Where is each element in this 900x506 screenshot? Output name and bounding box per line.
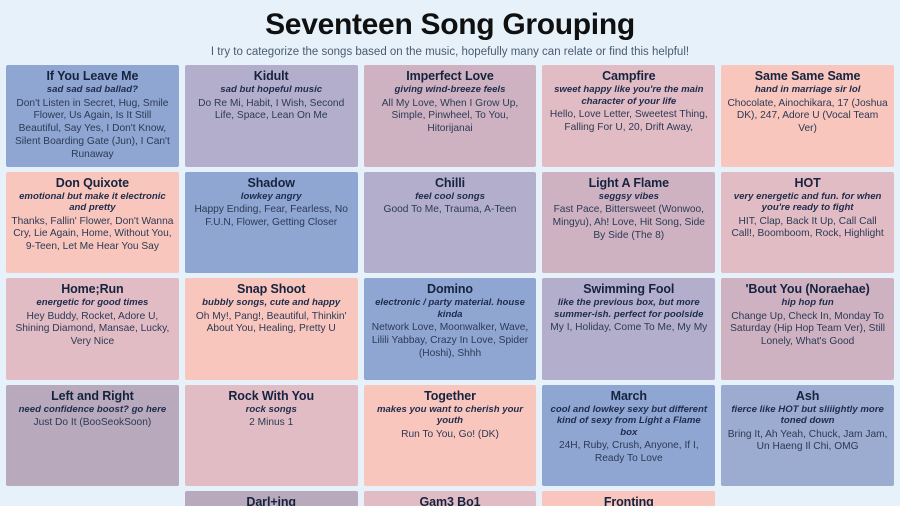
category-card-description: giving wind-breeze feels	[369, 84, 532, 96]
category-card-description: hand in marriage sir lol	[726, 84, 889, 96]
category-card-description: bubbly songs, cute and happy	[190, 297, 353, 309]
category-card-title: Together	[369, 389, 532, 404]
page-subtitle: I try to categorize the songs based on t…	[6, 46, 894, 60]
category-card-song-list: 2 Minus 1	[190, 417, 353, 430]
category-card-title: Home;Run	[11, 282, 174, 297]
category-card-song-list: Just Do It (BooSeokSoon)	[11, 417, 174, 430]
category-card-title: Kidult	[190, 69, 353, 84]
category-card: Rock With Yourock songs2 Minus 1	[185, 385, 358, 486]
category-card-empty	[6, 491, 179, 506]
category-card-song-list: Hello, Love Letter, Sweetest Thing, Fall…	[547, 109, 710, 135]
category-card: Togethermakes you want to cherish your y…	[364, 385, 537, 486]
category-card-title: Domino	[369, 282, 532, 297]
category-card-description: very energetic and fun. for when you're …	[726, 191, 889, 214]
category-card-description: seggsy vibes	[547, 191, 710, 203]
category-card-song-list: Oh My!, Pang!, Beautiful, Thinkin' About…	[190, 311, 353, 337]
category-card-description: makes you want to cherish your youth	[369, 404, 532, 427]
category-grid: If You Leave Mesad sad sad ballad?Don't …	[6, 65, 894, 506]
category-card: Chillifeel cool songsGood To Me, Trauma,…	[364, 172, 537, 273]
category-card-song-list: Chocolate, Ainochikara, 17 (Joshua DK), …	[726, 98, 889, 137]
category-card-description: feel cool songs	[369, 191, 532, 203]
category-card-title: Swimming Fool	[547, 282, 710, 297]
category-card-description: fierce like HOT but sliiightly more tone…	[726, 404, 889, 427]
category-card: Darl+ingthe beats are loud but somewhat …	[185, 491, 358, 506]
category-card-title: Snap Shoot	[190, 282, 353, 297]
category-card: If You Leave Mesad sad sad ballad?Don't …	[6, 65, 179, 166]
category-card-title: Imperfect Love	[369, 69, 532, 84]
category-card: Dominoelectronic / party material. house…	[364, 278, 537, 379]
category-card-empty	[721, 491, 894, 506]
category-card: Light A Flameseggsy vibesFast Pace, Bitt…	[542, 172, 715, 273]
category-card-title: Shadow	[190, 176, 353, 191]
category-card-description: cool and lowkey sexy but different kind …	[547, 404, 710, 439]
category-card-song-list: Do Re Mi, Habit, I Wish, Second Life, Sp…	[190, 98, 353, 124]
category-card-song-list: Bring It, Ah Yeah, Chuck, Jam Jam, Un Ha…	[726, 429, 889, 455]
infographic-page: Seventeen Song Grouping I try to categor…	[0, 0, 900, 506]
category-card-title: HOT	[726, 176, 889, 191]
category-card-title: March	[547, 389, 710, 404]
category-card-song-list: Don't Listen in Secret, Hug, Smile Flowe…	[11, 98, 174, 162]
category-card-description: rock songs	[190, 404, 353, 416]
category-card-song-list: Change Up, Check In, Monday To Saturday …	[726, 311, 889, 350]
category-card-title: Don Quixote	[11, 176, 174, 191]
category-card-song-list: All My Love, When I Grow Up, Simple, Pin…	[369, 98, 532, 137]
category-card: Marchcool and lowkey sexy but different …	[542, 385, 715, 486]
category-card-description: need confidence boost? go here	[11, 404, 174, 416]
category-card-description: sad but hopeful music	[190, 84, 353, 96]
category-card-title: Gam3 Bo1	[369, 495, 532, 506]
category-card: Snap Shootbubbly songs, cute and happyOh…	[185, 278, 358, 379]
category-card: 'Bout You (Noraehae)hip hop funChange Up…	[721, 278, 894, 379]
page-header: Seventeen Song Grouping I try to categor…	[6, 6, 894, 65]
category-card: Campfiresweet happy like you're the main…	[542, 65, 715, 166]
page-title: Seventeen Song Grouping	[6, 8, 894, 42]
category-card-song-list: Happy Ending, Fear, Fearless, No F.U.N, …	[190, 204, 353, 230]
category-card-title: Same Same Same	[726, 69, 889, 84]
category-card: Imperfect Lovegiving wind-breeze feelsAl…	[364, 65, 537, 166]
category-card-song-list: Fast Pace, Bittersweet (Wonwoo, Mingyu),…	[547, 204, 710, 243]
category-card: Same Same Samehand in marriage sir lolCh…	[721, 65, 894, 166]
category-card: Swimming Foollike the previous box, but …	[542, 278, 715, 379]
category-card-title: Darl+ing	[190, 495, 353, 506]
category-card-title: Rock With You	[190, 389, 353, 404]
category-card-song-list: Network Love, Moonwalker, Wave, Lilili Y…	[369, 322, 532, 361]
category-card-description: sad sad sad ballad?	[11, 84, 174, 96]
category-card-description: energetic for good times	[11, 297, 174, 309]
category-card-title: Light A Flame	[547, 176, 710, 191]
category-card-description: hip hop fun	[726, 297, 889, 309]
category-card-title: 'Bout You (Noraehae)	[726, 282, 889, 297]
category-card-description: lowkey angry	[190, 191, 353, 203]
category-card-description: emotional but make it electronic and pre…	[11, 191, 174, 214]
category-card: Home;Runenergetic for good timesHey Budd…	[6, 278, 179, 379]
category-card-title: Left and Right	[11, 389, 174, 404]
category-card: Kidultsad but hopeful musicDo Re Mi, Hab…	[185, 65, 358, 166]
category-card: Gam3 Bo1no desc needed, it's Gam3 Bo1Beg…	[364, 491, 537, 506]
category-card: Left and Rightneed confidence boost? go …	[6, 385, 179, 486]
category-card: HOTvery energetic and fun. for when you'…	[721, 172, 894, 273]
category-card: Shadowlowkey angryHappy Ending, Fear, Fe…	[185, 172, 358, 273]
category-card-description: electronic / party material. house kinda	[369, 297, 532, 320]
category-card-song-list: 24H, Ruby, Crush, Anyone, If I, Ready To…	[547, 440, 710, 466]
category-card-song-list: Run To You, Go! (DK)	[369, 429, 532, 442]
category-card-description: like the previous box, but more summer-i…	[547, 297, 710, 320]
category-card: FrontingShining Diamond (Performance Tea…	[542, 491, 715, 506]
category-card-title: Ash	[726, 389, 889, 404]
category-card-song-list: HIT, Clap, Back It Up, Call Call Call!, …	[726, 216, 889, 242]
category-card-title: Chilli	[369, 176, 532, 191]
category-card-song-list: Thanks, Fallin' Flower, Don't Wanna Cry,…	[11, 216, 174, 255]
category-card-description: sweet happy like you're the main charact…	[547, 84, 710, 107]
category-card-title: If You Leave Me	[11, 69, 174, 84]
category-card-title: Campfire	[547, 69, 710, 84]
category-card-song-list: Good To Me, Trauma, A-Teen	[369, 204, 532, 217]
category-card: Ashfierce like HOT but sliiightly more t…	[721, 385, 894, 486]
category-card-song-list: My I, Holiday, Come To Me, My My	[547, 322, 710, 335]
category-card: Don Quixoteemotional but make it electro…	[6, 172, 179, 273]
category-card-song-list: Hey Buddy, Rocket, Adore U, Shining Diam…	[11, 311, 174, 350]
category-card-title: Fronting	[547, 495, 710, 506]
